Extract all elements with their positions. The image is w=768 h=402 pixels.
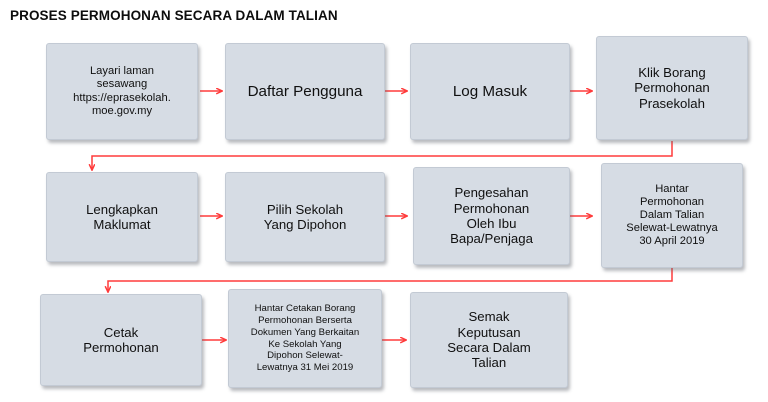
flow-node-klik-borang-permohonan[interactable]: Klik Borang Permohonan Prasekolah [596,36,748,140]
flow-node-hantar-cetakan-borang[interactable]: Hantar Cetakan Borang Permohonan Bersert… [228,289,382,388]
flow-node-label: Hantar Permohonan Dalam Talian Selewat-L… [622,183,721,248]
flow-node-layari-laman[interactable]: Layari laman sesawang https://eprasekola… [46,43,198,140]
flow-node-label: Lengkapkan Maklumat [82,202,162,233]
flow-node-label: Pilih Sekolah Yang Dipohon [260,202,351,233]
flow-node-pengesahan-permohonan[interactable]: Pengesahan Permohonan Oleh Ibu Bapa/Penj… [413,167,570,265]
flowchart-canvas: PROSES PERMOHONAN SECARA DALAM TALIAN La… [0,0,768,402]
flow-node-label: Hantar Cetakan Borang Permohonan Bersert… [247,303,363,373]
flow-node-label: Klik Borang Permohonan Prasekolah [630,65,714,111]
flow-node-hantar-permohonan-dalam-talian[interactable]: Hantar Permohonan Dalam Talian Selewat-L… [601,163,743,268]
connector-n4-n5 [92,141,672,170]
flow-node-label: Pengesahan Permohonan Oleh Ibu Bapa/Penj… [446,185,537,247]
flow-node-label: Daftar Pengguna [244,83,367,101]
flow-node-label: Log Masuk [449,83,531,101]
page-title: PROSES PERMOHONAN SECARA DALAM TALIAN [10,8,338,23]
connector-n8-n9 [108,268,672,292]
flow-node-lengkapkan-maklumat[interactable]: Lengkapkan Maklumat [46,172,198,262]
flow-node-semak-keputusan[interactable]: Semak Keputusan Secara Dalam Talian [410,292,568,388]
flow-node-label: Cetak Permohonan [79,325,163,356]
flow-node-log-masuk[interactable]: Log Masuk [410,43,570,140]
flow-node-daftar-pengguna[interactable]: Daftar Pengguna [225,43,385,140]
flow-node-cetak-permohonan[interactable]: Cetak Permohonan [40,294,202,386]
flow-node-label: Layari laman sesawang https://eprasekola… [69,65,175,117]
flow-node-label: Semak Keputusan Secara Dalam Talian [443,309,535,371]
flow-node-pilih-sekolah[interactable]: Pilih Sekolah Yang Dipohon [225,172,385,262]
